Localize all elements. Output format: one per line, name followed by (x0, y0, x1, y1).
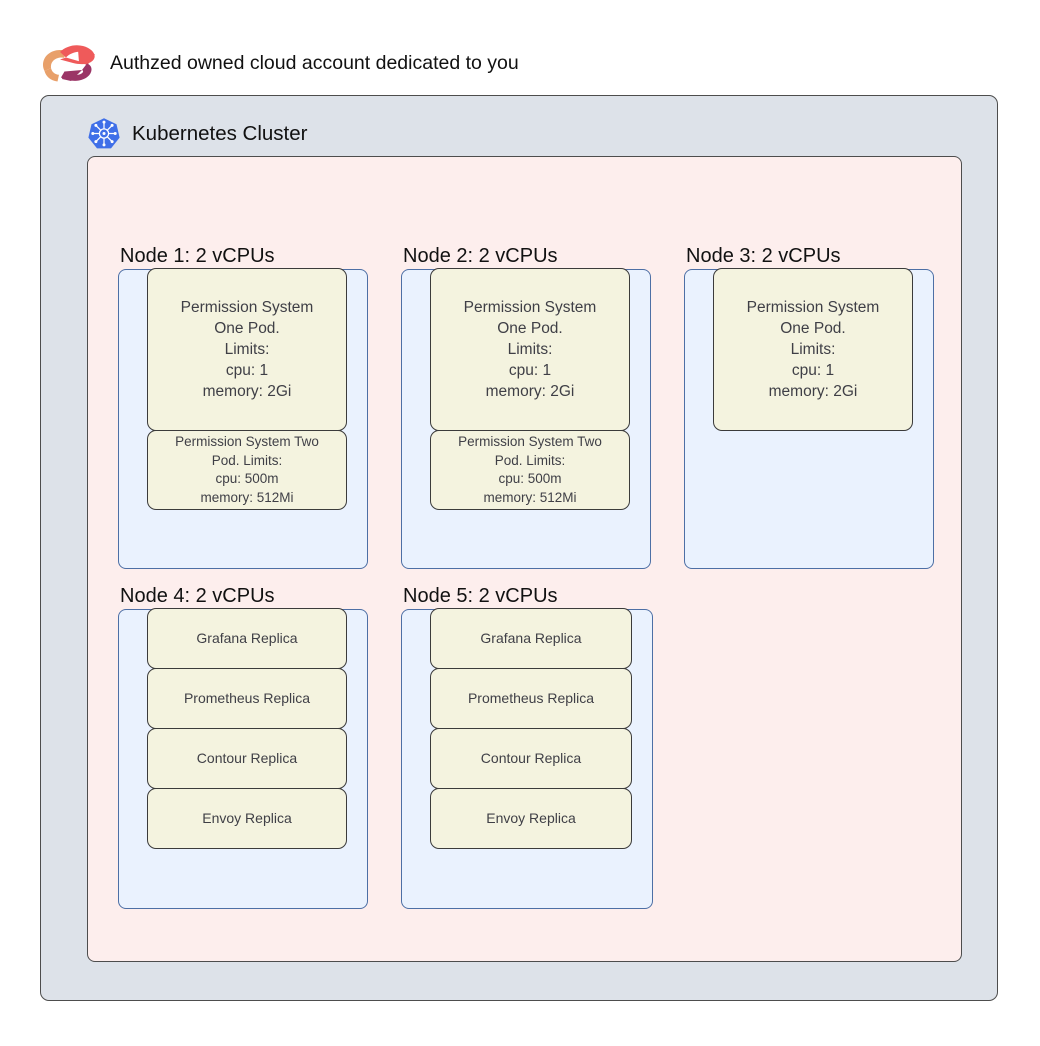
pod-line: Permission System Two (175, 433, 319, 452)
pod-line: memory: 2Gi (769, 381, 858, 402)
pod-line: One Pod. (780, 318, 846, 339)
pod-line: One Pod. (497, 318, 563, 339)
pod-line: cpu: 1 (792, 360, 834, 381)
pod-line: Prometheus Replica (468, 688, 594, 709)
pod-box[interactable]: Permission System One Pod. Limits: cpu: … (713, 268, 913, 431)
node-slot: Node 5: 2 vCPUs Grafana Replica Promethe… (401, 585, 653, 909)
authzed-logo-icon (40, 43, 98, 85)
pod-line: One Pod. (214, 318, 280, 339)
pod-line: cpu: 500m (215, 470, 278, 489)
node-slot: Node 3: 2 vCPUs Permission System One Po… (684, 245, 934, 569)
node-box-1[interactable]: Permission System One Pod. Limits: cpu: … (118, 269, 368, 569)
pod-line: Grafana Replica (480, 628, 581, 649)
pod-line: cpu: 500m (498, 470, 561, 489)
node-slot: Node 1: 2 vCPUs Permission System One Po… (118, 245, 368, 569)
pod-stack: Grafana Replica Prometheus Replica Conto… (430, 608, 632, 849)
pod-box[interactable]: Prometheus Replica (147, 668, 347, 729)
pod-box[interactable]: Permission System Two Pod. Limits: cpu: … (147, 430, 347, 510)
pod-line: Permission System (181, 297, 314, 318)
pod-line: cpu: 1 (226, 360, 268, 381)
pod-line: Limits: (791, 339, 836, 360)
pod-box[interactable]: Permission System Two Pod. Limits: cpu: … (430, 430, 630, 510)
pod-line: Limits: (508, 339, 553, 360)
pod-stack: Permission System One Pod. Limits: cpu: … (713, 268, 913, 431)
node-box-5[interactable]: Grafana Replica Prometheus Replica Conto… (401, 609, 653, 909)
pod-box[interactable]: Permission System One Pod. Limits: cpu: … (430, 268, 630, 431)
pod-box[interactable]: Envoy Replica (430, 788, 632, 849)
pod-box[interactable]: Contour Replica (430, 728, 632, 789)
pod-line: memory: 2Gi (203, 381, 292, 402)
node-slot: Node 4: 2 vCPUs Grafana Replica Promethe… (118, 585, 368, 909)
pod-stack: Permission System One Pod. Limits: cpu: … (430, 268, 630, 510)
pod-line: memory: 2Gi (486, 381, 575, 402)
account-caption: Authzed owned cloud account dedicated to… (40, 42, 519, 86)
pod-line: Contour Replica (197, 748, 297, 769)
node-box-2[interactable]: Permission System One Pod. Limits: cpu: … (401, 269, 651, 569)
pod-line: Envoy Replica (486, 808, 576, 829)
kubernetes-cluster-region: Node 1: 2 vCPUs Permission System One Po… (87, 156, 962, 962)
node-slot: Node 2: 2 vCPUs Permission System One Po… (401, 245, 651, 569)
pod-box[interactable]: Grafana Replica (430, 608, 632, 669)
pod-box[interactable]: Prometheus Replica (430, 668, 632, 729)
node-label-5: Node 5: 2 vCPUs (401, 585, 653, 607)
pod-line: Contour Replica (481, 748, 581, 769)
account-shell-container: Kubernetes Cluster Node 1: 2 vCPUs Permi… (40, 95, 998, 1001)
node-row: Node 1: 2 vCPUs Permission System One Po… (118, 245, 948, 569)
pod-stack: Permission System One Pod. Limits: cpu: … (147, 268, 347, 510)
pod-line: memory: 512Mi (483, 489, 576, 508)
node-grid: Node 1: 2 vCPUs Permission System One Po… (118, 245, 948, 909)
node-box-4[interactable]: Grafana Replica Prometheus Replica Conto… (118, 609, 368, 909)
node-label-3: Node 3: 2 vCPUs (684, 245, 934, 267)
pod-line: Permission System Two (458, 433, 602, 452)
pod-box[interactable]: Envoy Replica (147, 788, 347, 849)
pod-line: Pod. Limits: (495, 452, 566, 471)
pod-line: cpu: 1 (509, 360, 551, 381)
pod-line: Prometheus Replica (184, 688, 310, 709)
node-label-2: Node 2: 2 vCPUs (401, 245, 651, 267)
kubernetes-logo-icon (87, 117, 121, 151)
cluster-header: Kubernetes Cluster (87, 116, 307, 152)
node-box-3[interactable]: Permission System One Pod. Limits: cpu: … (684, 269, 934, 569)
pod-stack: Grafana Replica Prometheus Replica Conto… (147, 608, 347, 849)
pod-line: Grafana Replica (196, 628, 297, 649)
node-label-1: Node 1: 2 vCPUs (118, 245, 368, 267)
pod-line: Permission System (747, 297, 880, 318)
pod-box[interactable]: Grafana Replica (147, 608, 347, 669)
pod-line: Limits: (225, 339, 270, 360)
pod-line: Pod. Limits: (212, 452, 283, 471)
pod-line: memory: 512Mi (200, 489, 293, 508)
node-label-4: Node 4: 2 vCPUs (118, 585, 368, 607)
cluster-title: Kubernetes Cluster (132, 124, 307, 145)
pod-box[interactable]: Contour Replica (147, 728, 347, 789)
node-row: Node 4: 2 vCPUs Grafana Replica Promethe… (118, 585, 948, 909)
pod-line: Envoy Replica (202, 808, 292, 829)
pod-line: Permission System (464, 297, 597, 318)
pod-box[interactable]: Permission System One Pod. Limits: cpu: … (147, 268, 347, 431)
account-caption-text: Authzed owned cloud account dedicated to… (110, 54, 519, 74)
